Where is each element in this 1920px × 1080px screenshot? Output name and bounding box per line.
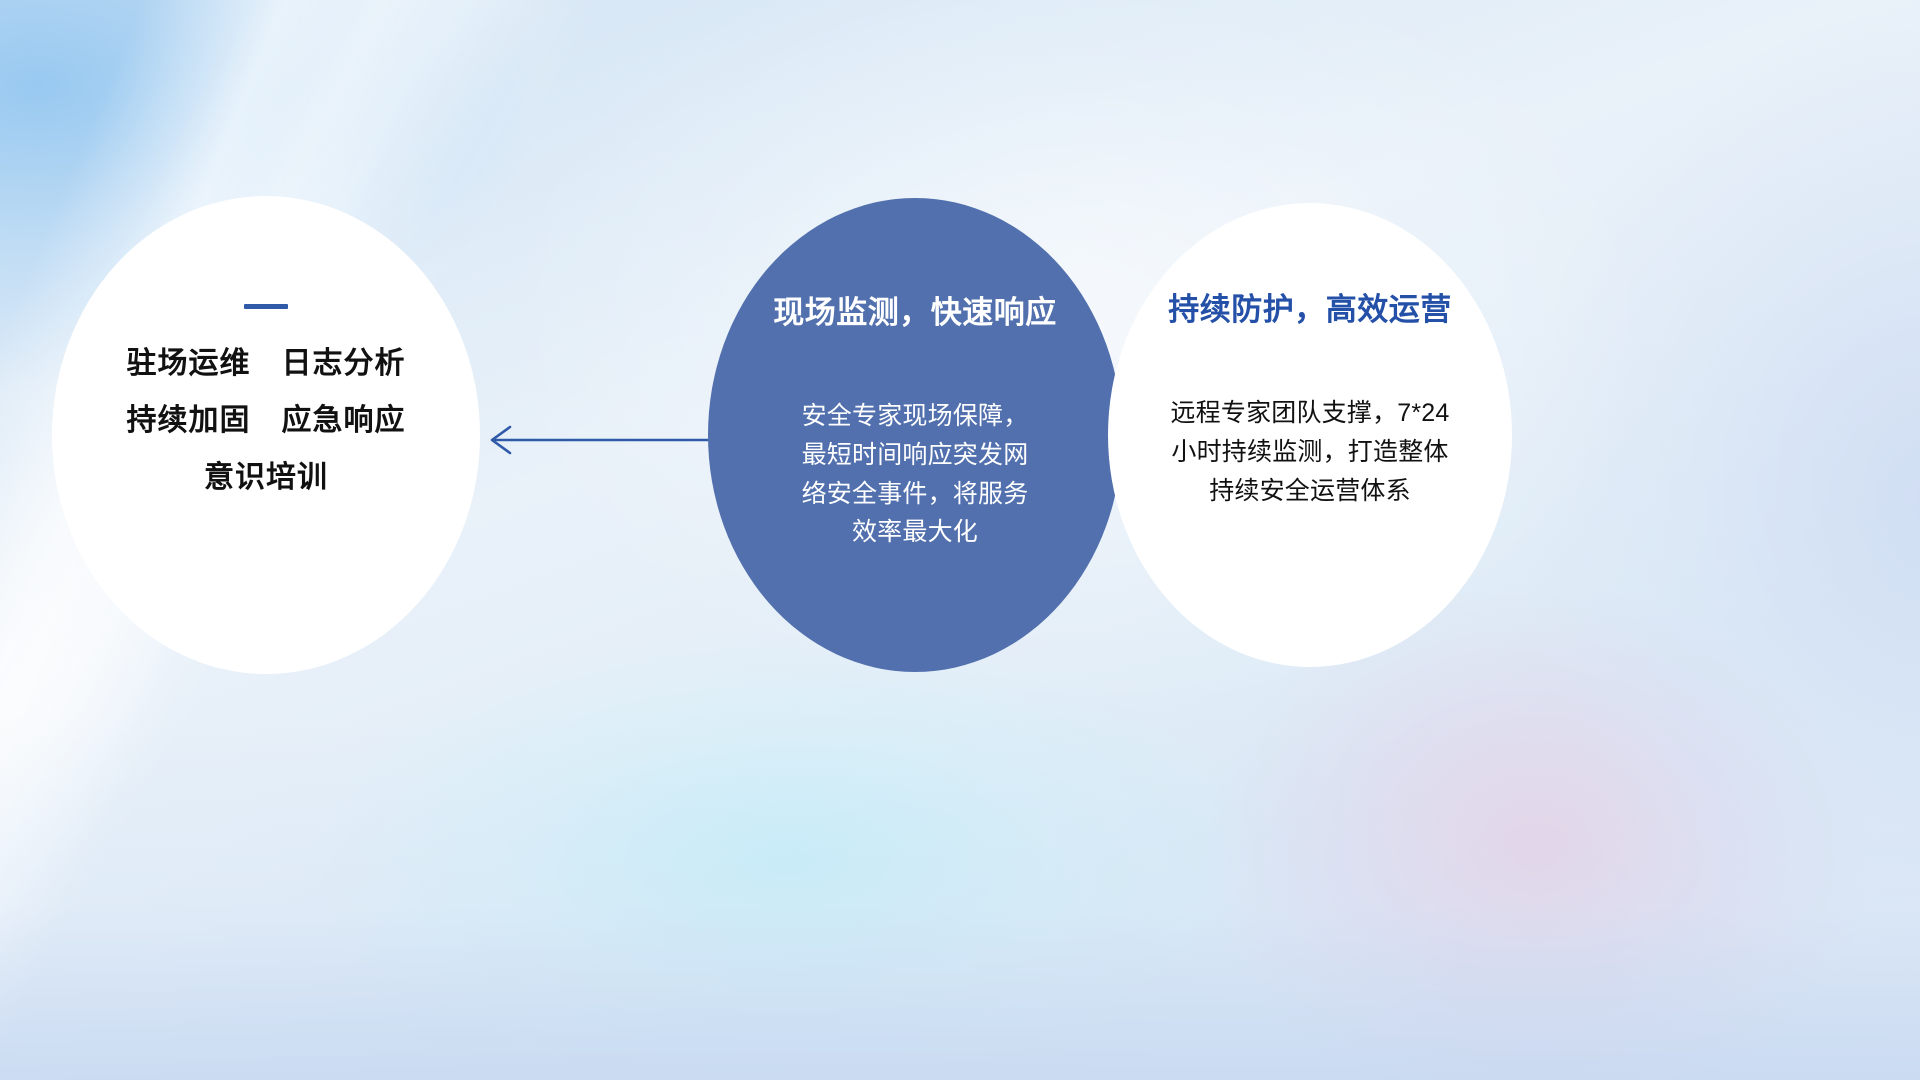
card-body-line: 小时持续监测，打造整体	[1140, 433, 1480, 472]
slide-canvas: 驻场运维 日志分析 持续加固 应急响应 意识培训 现场监测，快速响应 安全专家现…	[0, 0, 1920, 1080]
card-body-line: 络安全事件，将服务	[759, 475, 1071, 514]
card-body-continuous-protection: 远程专家团队支撑，7*24 小时持续监测，打造整体 持续安全运营体系	[1140, 394, 1480, 510]
arrow-connector	[480, 405, 740, 475]
card-body-line: 效率最大化	[759, 513, 1071, 552]
card-body-line: 最短时间响应突发网	[759, 436, 1071, 475]
card-body-line: 安全专家现场保障，	[759, 397, 1071, 436]
accent-dash-icon	[244, 304, 288, 309]
capability-line-1: 驻场运维 日志分析	[127, 347, 406, 380]
card-body-line: 持续安全运营体系	[1140, 472, 1480, 511]
card-title-onsite-monitoring: 现场监测，快速响应	[773, 294, 1057, 331]
capability-line-3: 意识培训	[204, 461, 328, 494]
card-body-onsite-monitoring: 安全专家现场保障， 最短时间响应突发网 络安全事件，将服务 效率最大化	[759, 397, 1071, 552]
capability-list: 驻场运维 日志分析 持续加固 应急响应 意识培训	[127, 347, 406, 494]
card-continuous-protection[interactable]: 持续防护，高效运营 远程专家团队支撑，7*24 小时持续监测，打造整体 持续安全…	[1108, 203, 1512, 667]
card-onsite-monitoring[interactable]: 现场监测，快速响应 安全专家现场保障， 最短时间响应突发网 络安全事件，将服务 …	[708, 198, 1122, 672]
capability-line-2: 持续加固 应急响应	[127, 404, 406, 437]
card-title-continuous-protection: 持续防护，高效运营	[1168, 291, 1452, 328]
card-capabilities[interactable]: 驻场运维 日志分析 持续加固 应急响应 意识培训	[52, 196, 480, 674]
card-body-line: 远程专家团队支撑，7*24	[1140, 394, 1480, 433]
